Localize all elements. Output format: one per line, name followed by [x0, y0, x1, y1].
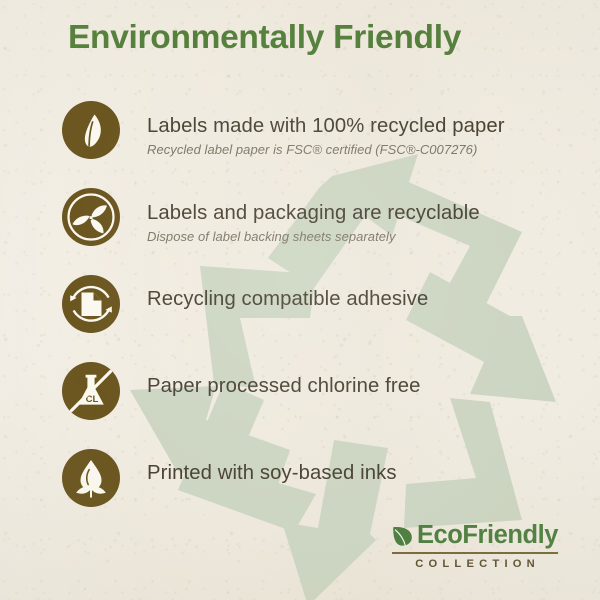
- list-item-label: Recycling compatible adhesive: [147, 288, 587, 312]
- list-item-label: Printed with soy-based inks: [147, 462, 587, 486]
- list-item-text: Labels and packaging are recyclable Disp…: [147, 202, 587, 244]
- list-item-text: Recycling compatible adhesive: [147, 288, 587, 312]
- list-item-label: Labels and packaging are recyclable: [147, 202, 587, 226]
- list-item: Labels and packaging are recyclable Disp…: [0, 188, 600, 275]
- page-title: Environmentally Friendly: [68, 19, 461, 57]
- brand-divider: [392, 552, 558, 554]
- brand-tagline: COLLECTION: [392, 559, 558, 570]
- poster-canvas: Environmentally Friendly Labels made wit…: [0, 0, 600, 600]
- list-item: Recycling compatible adhesive: [0, 275, 600, 362]
- list-item-label: Paper processed chlorine free: [147, 375, 587, 399]
- brand-name: EcoFriendly: [417, 523, 558, 549]
- brand-logo: EcoFriendly COLLECTION: [392, 523, 558, 570]
- list-item-text: Paper processed chlorine free: [147, 375, 587, 399]
- brand-logo-top: EcoFriendly: [392, 523, 558, 549]
- three-leaves-recycle-icon: [62, 188, 120, 246]
- feature-list: Labels made with 100% recycled paper Rec…: [0, 101, 600, 536]
- list-item: Labels made with 100% recycled paper Rec…: [0, 101, 600, 188]
- list-item-label: Labels made with 100% recycled paper: [147, 115, 587, 139]
- list-item-text: Printed with soy-based inks: [147, 462, 587, 486]
- soy-droplet-sprout-icon: [62, 449, 120, 507]
- list-item-text: Labels made with 100% recycled paper Rec…: [147, 115, 587, 157]
- list-item-subtext: Recycled label paper is FSC® certified (…: [147, 142, 587, 157]
- leaf-icon: [62, 101, 120, 159]
- poster-content: Environmentally Friendly Labels made wit…: [0, 0, 600, 600]
- leaf-icon: [392, 525, 413, 547]
- list-item-subtext: Dispose of label backing sheets separate…: [147, 229, 587, 244]
- no-chlorine-flask-icon: CL: [62, 362, 120, 420]
- list-item: CL Paper processed chlorine free: [0, 362, 600, 449]
- document-recycle-icon: [62, 275, 120, 333]
